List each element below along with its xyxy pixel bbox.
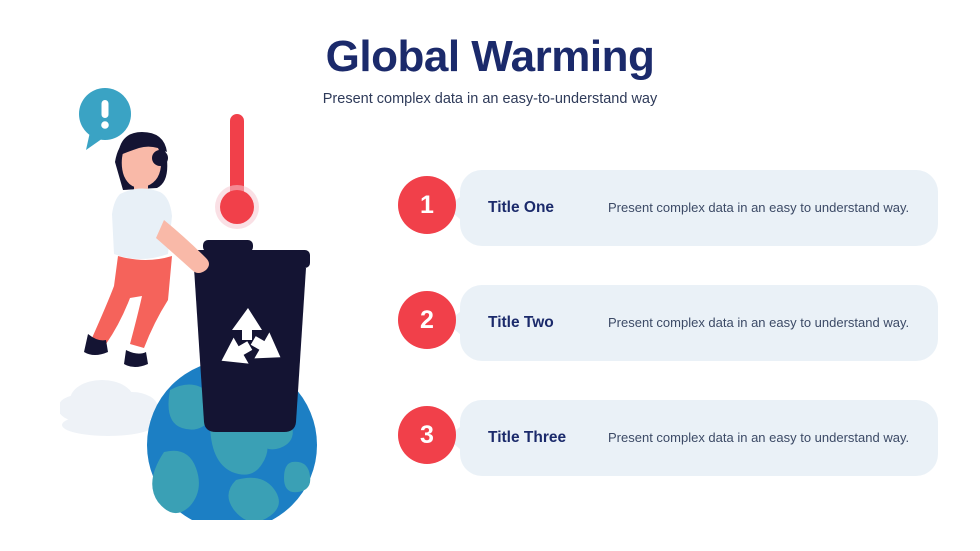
list-item: 2 Title Two Present complex data in an e… bbox=[398, 285, 938, 365]
slide: Global Warming Present complex data in a… bbox=[0, 0, 980, 551]
item-description: Present complex data in an easy to under… bbox=[608, 428, 938, 448]
item-number-badge: 3 bbox=[398, 406, 456, 464]
item-description: Present complex data in an easy to under… bbox=[608, 313, 938, 333]
recycling-bin-icon bbox=[190, 240, 310, 432]
item-description: Present complex data in an easy to under… bbox=[608, 198, 938, 218]
item-title: Title Three bbox=[460, 429, 608, 447]
illustration bbox=[60, 70, 380, 520]
item-title: Title Two bbox=[460, 314, 608, 332]
list-item: 3 Title Three Present complex data in an… bbox=[398, 400, 938, 480]
content-list: 1 Title One Present complex data in an e… bbox=[398, 170, 938, 480]
item-bubble[interactable]: Title One Present complex data in an eas… bbox=[460, 170, 938, 246]
cloud-shapes bbox=[60, 380, 158, 436]
item-number-badge: 1 bbox=[398, 176, 456, 234]
item-bubble[interactable]: Title Three Present complex data in an e… bbox=[460, 400, 938, 476]
item-title: Title One bbox=[460, 199, 608, 217]
list-item: 1 Title One Present complex data in an e… bbox=[398, 170, 938, 250]
woman-figure bbox=[84, 132, 209, 367]
item-number-badge: 2 bbox=[398, 291, 456, 349]
item-bubble[interactable]: Title Two Present complex data in an eas… bbox=[460, 285, 938, 361]
thermometer-icon bbox=[215, 115, 259, 229]
